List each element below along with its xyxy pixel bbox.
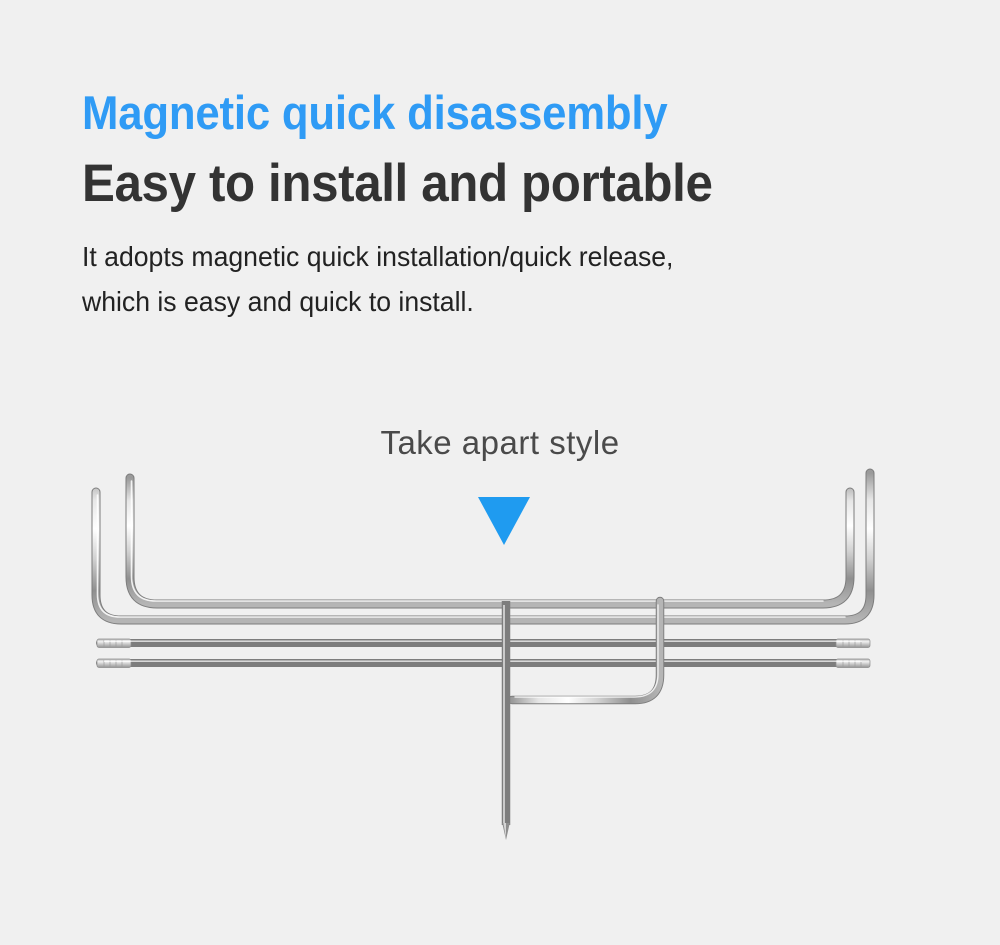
center-post bbox=[502, 601, 510, 840]
page-title: Magnetic quick disassembly bbox=[82, 88, 900, 139]
page-subtitle: Easy to install and portable bbox=[82, 155, 900, 213]
straight-rod-upper bbox=[97, 639, 870, 648]
inner-u-rail bbox=[130, 478, 850, 604]
text-block: Magnetic quick disassembly Easy to insta… bbox=[82, 88, 962, 325]
description-line-2: which is easy and quick to install. bbox=[82, 280, 918, 325]
description-line-1: It adopts magnetic quick installation/qu… bbox=[82, 235, 918, 280]
description-text: It adopts magnetic quick installation/qu… bbox=[82, 235, 918, 325]
straight-rod-lower bbox=[97, 659, 870, 668]
outer-u-rail bbox=[96, 473, 870, 620]
product-illustration bbox=[0, 455, 1000, 875]
product-feature-panel: Magnetic quick disassembly Easy to insta… bbox=[0, 0, 1000, 945]
